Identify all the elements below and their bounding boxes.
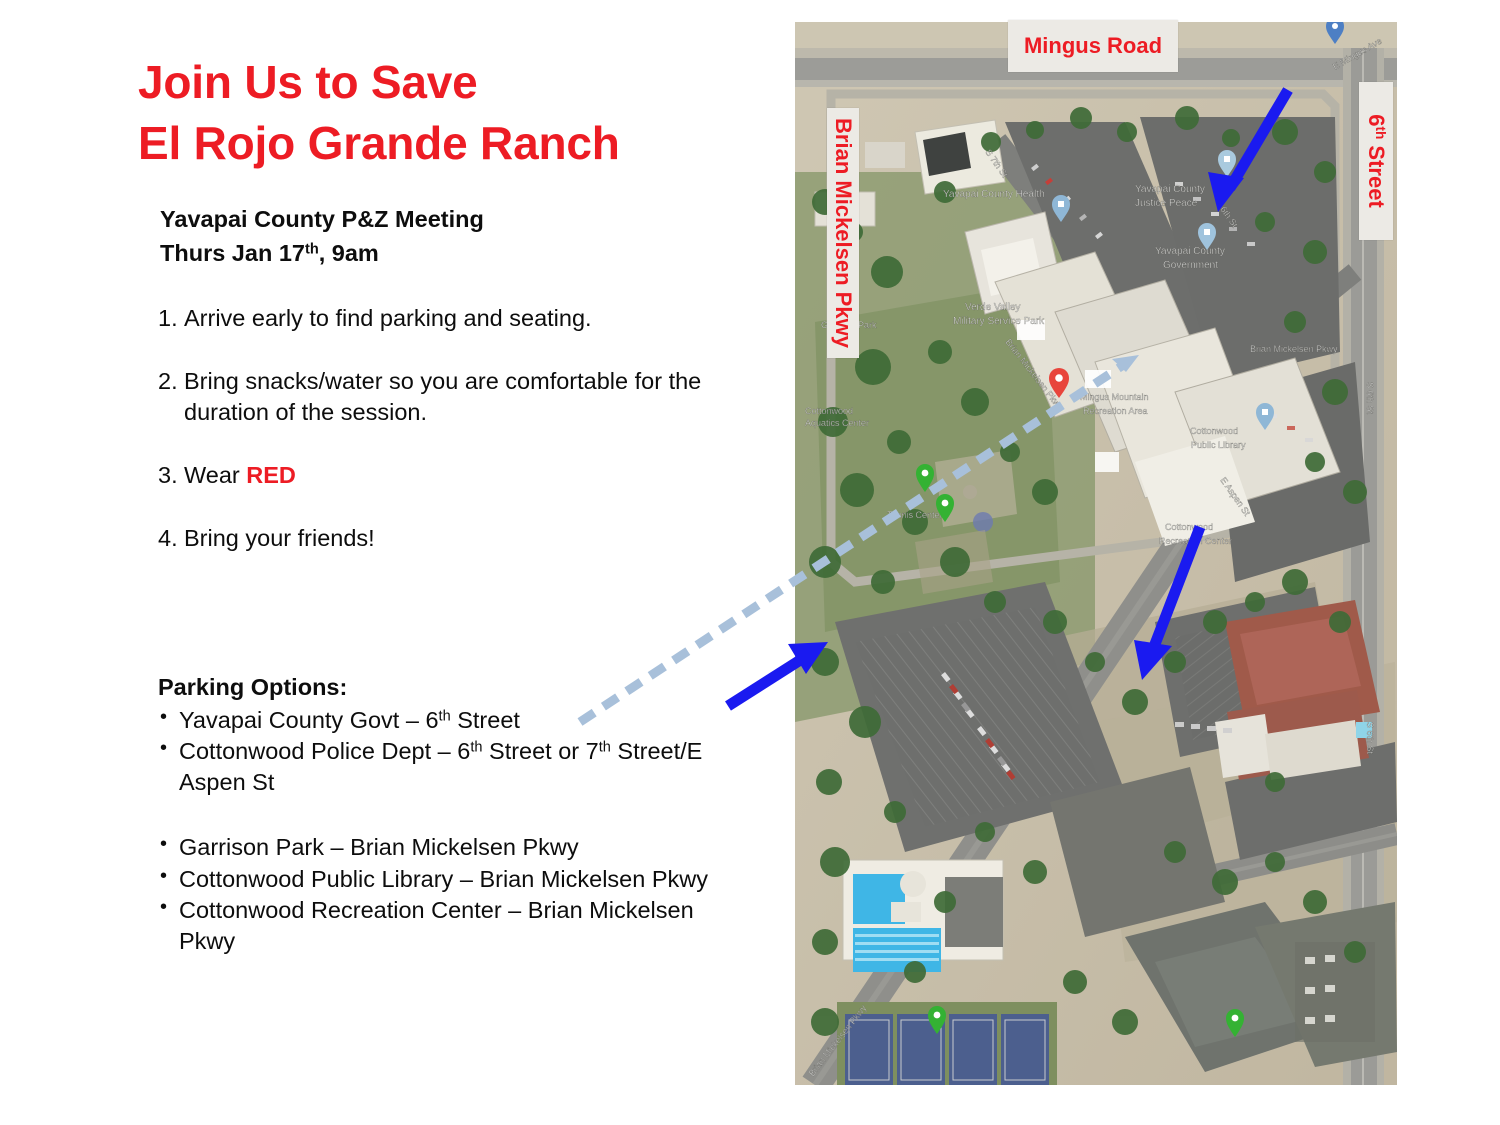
meeting-time: , 9am	[319, 240, 379, 266]
list-item-number: 2.	[158, 366, 178, 396]
list-item-text: Arrive early to find parking and seating…	[184, 305, 592, 331]
headline-line-1: Join Us to Save	[138, 52, 738, 113]
map-label-brian-mickelsen-pkwy: Brian Mickelsen Pkwy	[827, 108, 859, 358]
svg-text:Tennis Center: Tennis Center	[887, 510, 943, 520]
list-item: 1.Arrive early to find parking and seati…	[158, 303, 728, 333]
sixth-street-ordinal: th	[1373, 126, 1388, 139]
map-label-mingus-road: Mingus Road	[1008, 20, 1178, 72]
svg-text:Cottonwood: Cottonwood	[1190, 426, 1238, 436]
svg-text:Cottonwood: Cottonwood	[805, 406, 853, 416]
svg-text:Yavapai County: Yavapai County	[1135, 184, 1205, 195]
svg-text:Brian Mickelsen Pkwy: Brian Mickelsen Pkwy	[1250, 344, 1338, 354]
map-imagery: Transportation office E Mingus Ave Yavap…	[795, 22, 1397, 1085]
ordinal-suffix: th	[470, 740, 482, 756]
map-label-6th-street: 6th Street	[1359, 82, 1393, 240]
page-title: Join Us to Save El Rojo Grande Ranch	[138, 52, 738, 174]
meeting-title: Yavapai County P&Z Meeting	[160, 203, 720, 237]
svg-text:Yavapai County Health: Yavapai County Health	[943, 189, 1045, 200]
svg-text:Cottonwood: Cottonwood	[1165, 522, 1213, 532]
parking-item-text: Garrison Park – Brian Mickelsen Pkwy	[179, 834, 579, 860]
satellite-map: Transportation office E Mingus Ave Yavap…	[795, 22, 1397, 1085]
parking-item-text: Cottonwood Public Library – Brian Mickel…	[179, 866, 708, 892]
list-item-text: Bring snacks/water so you are comfortabl…	[184, 368, 701, 424]
sixth-street-word: Street	[1364, 139, 1389, 207]
meeting-date-prefix: Thurs Jan 17	[160, 240, 305, 266]
parking-item-text: Yavapai County Govt – 6	[179, 707, 439, 733]
list-item: •Yavapai County Govt – 6th Street	[158, 705, 738, 736]
svg-text:Recreation Center: Recreation Center	[1159, 536, 1232, 546]
parking-item-text-end: Street	[451, 707, 520, 733]
instruction-list: 1.Arrive early to find parking and seati…	[158, 303, 728, 587]
svg-text:Aquatics Center: Aquatics Center	[805, 418, 869, 428]
list-item-number: 3.	[158, 460, 178, 490]
list-item: 4.Bring your friends!	[158, 523, 728, 553]
svg-text:Military Service Park: Military Service Park	[953, 316, 1045, 327]
list-item-text: Wear	[184, 462, 246, 488]
list-item: •Cottonwood Recreation Center – Brian Mi…	[158, 895, 738, 956]
sixth-street-number: 6	[1364, 114, 1389, 126]
bullet-icon: •	[160, 704, 167, 730]
meeting-date-ordinal: th	[305, 241, 319, 257]
list-item: •Garrison Park – Brian Mickelsen Pkwy	[158, 832, 738, 863]
parking-list-government: •Yavapai County Govt – 6th Street •Cotto…	[158, 705, 738, 798]
list-item-number: 4.	[158, 523, 178, 553]
bullet-icon: •	[160, 831, 167, 857]
list-item: •Cottonwood Police Dept – 6th Street or …	[158, 736, 738, 797]
list-item: 3.Wear RED	[158, 460, 728, 490]
svg-text:Mingus Mountain: Mingus Mountain	[1080, 392, 1149, 402]
ordinal-suffix-2: th	[599, 740, 611, 756]
svg-text:Public Library: Public Library	[1191, 440, 1246, 450]
list-item-text: Bring your friends!	[184, 525, 375, 551]
list-item: •Cottonwood Public Library – Brian Micke…	[158, 864, 738, 895]
bullet-icon: •	[160, 894, 167, 920]
svg-text:Justice Peace: Justice Peace	[1135, 198, 1198, 209]
parking-options-block: Parking Options: •Yavapai County Govt – …	[158, 672, 738, 957]
parking-options-heading: Parking Options:	[158, 672, 738, 703]
meeting-info: Yavapai County P&Z Meeting Thurs Jan 17t…	[160, 203, 720, 270]
parking-list-public: •Garrison Park – Brian Mickelsen Pkwy •C…	[158, 832, 738, 956]
svg-text:Yavapai County: Yavapai County	[1155, 246, 1225, 257]
list-item: 2.Bring snacks/water so you are comforta…	[158, 366, 728, 427]
list-item-number: 1.	[158, 303, 178, 333]
bullet-icon: •	[160, 735, 167, 761]
parking-item-text-mid: Street or 7	[482, 738, 598, 764]
meeting-datetime: Thurs Jan 17th, 9am	[160, 237, 720, 271]
svg-text:Government: Government	[1163, 260, 1218, 271]
svg-text:Verde Valley: Verde Valley	[965, 302, 1020, 313]
ordinal-suffix: th	[439, 708, 451, 724]
parking-item-text: Cottonwood Recreation Center – Brian Mic…	[179, 897, 694, 954]
list-item-emphasis: RED	[246, 462, 296, 488]
svg-text:Recreation Area: Recreation Area	[1083, 406, 1148, 416]
parking-item-text: Cottonwood Police Dept – 6	[179, 738, 470, 764]
headline-line-2: El Rojo Grande Ranch	[138, 113, 738, 174]
svg-text:S 6th St: S 6th St	[1365, 722, 1375, 755]
flyer-text-column: Join Us to Save El Rojo Grande Ranch Yav…	[0, 0, 770, 1125]
bullet-icon: •	[160, 863, 167, 889]
svg-text:S 6th St: S 6th St	[1365, 382, 1375, 415]
